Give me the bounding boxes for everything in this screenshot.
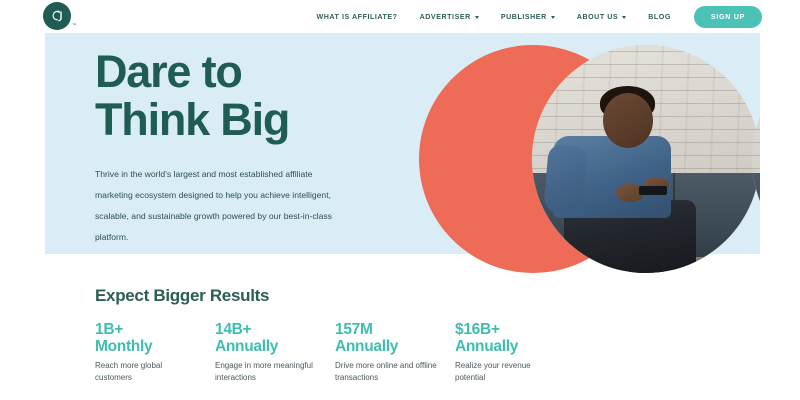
nav-item-publisher[interactable]: PUBLISHER [490,13,566,21]
stat-period: Annually [335,338,455,355]
stat-item: $16B+ Annually Realize your revenue pote… [455,322,575,383]
nav-label: ADVERTISER [420,13,471,21]
hero-paragraph: Thrive in the world's largest and most e… [95,164,343,248]
main-navigation: WHAT IS AFFILIATE? ADVERTISER PUBLISHER … [305,0,762,33]
stat-number: 1B+ [95,322,215,338]
hero-photo-right [752,45,760,273]
stat-period: Annually [455,338,575,355]
nav-item-blog[interactable]: BLOG [637,13,682,21]
nav-label: ABOUT US [577,13,618,21]
man-head [603,93,653,148]
trademark-symbol: ™ [72,22,76,27]
hero-photo-left [532,45,760,273]
stat-item: 157M Annually Drive more online and offl… [335,322,455,383]
stat-item: 1B+ Monthly Reach more global customers [95,322,215,383]
stats-row: 1B+ Monthly Reach more global customers … [95,322,755,383]
stat-description: Drive more online and offline transactio… [335,360,439,383]
hero-title: Dare to Think Big [95,48,365,144]
stat-description: Realize your revenue potential [455,360,559,383]
stat-period: Annually [215,338,335,355]
man-arm [543,144,588,216]
photo-scene-right [752,45,760,273]
stat-number: $16B+ [455,322,575,338]
site-header: ™ WHAT IS AFFILIATE? ADVERTISER PUBLISHE… [0,0,800,33]
nav-label: WHAT IS AFFILIATE? [316,13,397,21]
nav-label: BLOG [648,13,671,21]
cj-logo[interactable] [43,2,71,30]
hero-title-line-2: Think Big [95,94,289,145]
stat-item: 14B+ Annually Engage in more meaningful … [215,322,335,383]
photo-scene-left [532,45,760,273]
nav-label: PUBLISHER [501,13,547,21]
nav-item-what-is-affiliate[interactable]: WHAT IS AFFILIATE? [305,13,408,21]
results-title: Expect Bigger Results [95,286,755,306]
stat-description: Reach more global customers [95,360,199,383]
chevron-down-icon [475,16,479,19]
chevron-down-icon [551,16,555,19]
stat-period: Monthly [95,338,215,355]
sign-up-button[interactable]: SIGN UP [694,6,762,28]
smartphone [639,186,666,195]
nav-item-advertiser[interactable]: ADVERTISER [409,13,490,21]
cj-monogram-icon [49,8,66,25]
floor [752,257,760,273]
hero-copy: Dare to Think Big Thrive in the world's … [95,48,365,248]
stat-number: 157M [335,322,455,338]
hero-title-line-1: Dare to [95,46,242,97]
stat-number: 14B+ [215,322,335,338]
chevron-down-icon [622,16,626,19]
stat-description: Engage in more meaningful interactions [215,360,319,383]
nav-item-about-us[interactable]: ABOUT US [566,13,637,21]
results-section: Expect Bigger Results 1B+ Monthly Reach … [95,286,755,383]
